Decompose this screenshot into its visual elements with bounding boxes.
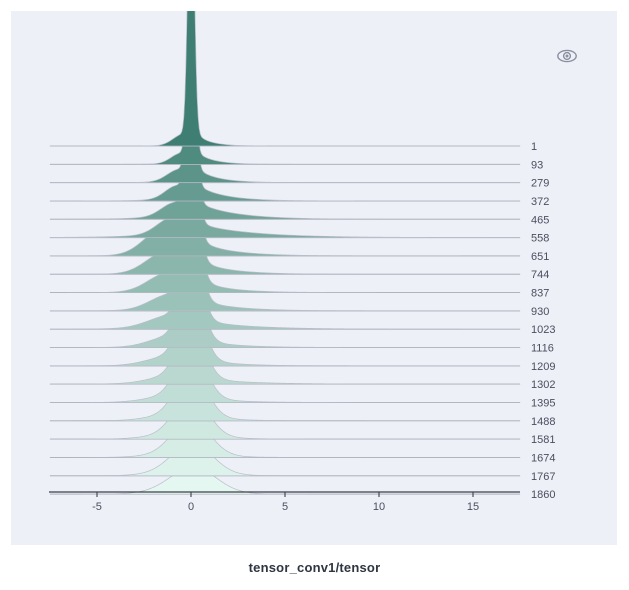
ridge-area (50, 259, 520, 348)
step-label: 744 (531, 269, 549, 281)
step-label: 1674 (531, 452, 555, 464)
step-label: 465 (531, 214, 549, 226)
step-label: 372 (531, 196, 549, 208)
ridge-area (50, 11, 520, 201)
histogram-card: 1932793724655586517448379301023111612091… (11, 11, 617, 545)
ridge-area (50, 316, 520, 384)
ridge-area (50, 11, 520, 146)
step-label: 1395 (531, 397, 555, 409)
step-label: 1767 (531, 471, 555, 483)
ridge-area (50, 78, 520, 256)
step-label: 558 (531, 233, 549, 245)
ridge-area (50, 156, 520, 292)
ridgeline-plot: 1932793724655586517448379301023111612091… (11, 11, 617, 545)
step-label: 1860 (531, 489, 555, 501)
x-axis-tick-label: 5 (282, 501, 288, 513)
ridge-area (50, 228, 520, 329)
ridge-area (50, 342, 520, 403)
step-label: 279 (531, 178, 549, 190)
step-label: 1 (531, 141, 537, 153)
ridge-area (50, 11, 520, 183)
ridge-area (50, 11, 520, 219)
step-label: 651 (531, 251, 549, 263)
x-axis-tick-label: 15 (467, 501, 479, 513)
page-title: tensor_conv1/tensor (0, 560, 629, 575)
ridge-area (50, 120, 520, 274)
step-label: 930 (531, 306, 549, 318)
ridge-area (50, 40, 520, 238)
step-label: 1116 (531, 343, 554, 355)
ridge-area (50, 441, 520, 476)
x-axis: -5051015 (49, 492, 520, 513)
step-label: 1209 (531, 361, 555, 373)
x-axis-tick-label: 0 (188, 501, 194, 513)
step-label: 1581 (531, 434, 555, 446)
ridges-layer (50, 11, 520, 494)
ridge-area (50, 367, 520, 420)
ridge-area (50, 11, 520, 164)
ridge-area (50, 417, 520, 458)
x-axis-tick-label: 10 (373, 501, 385, 513)
step-label: 1488 (531, 416, 555, 428)
ridge-area (50, 287, 520, 366)
step-label: 93 (531, 159, 543, 171)
ridge-area (50, 393, 520, 439)
step-labels-layer: 1932793724655586517448379301023111612091… (531, 141, 555, 501)
step-label: 1302 (531, 379, 555, 391)
x-axis-tick-label: -5 (92, 501, 102, 513)
ridge-area (50, 465, 520, 494)
step-label: 837 (531, 288, 549, 300)
step-label: 1023 (531, 324, 555, 336)
ridge-area (50, 193, 520, 311)
